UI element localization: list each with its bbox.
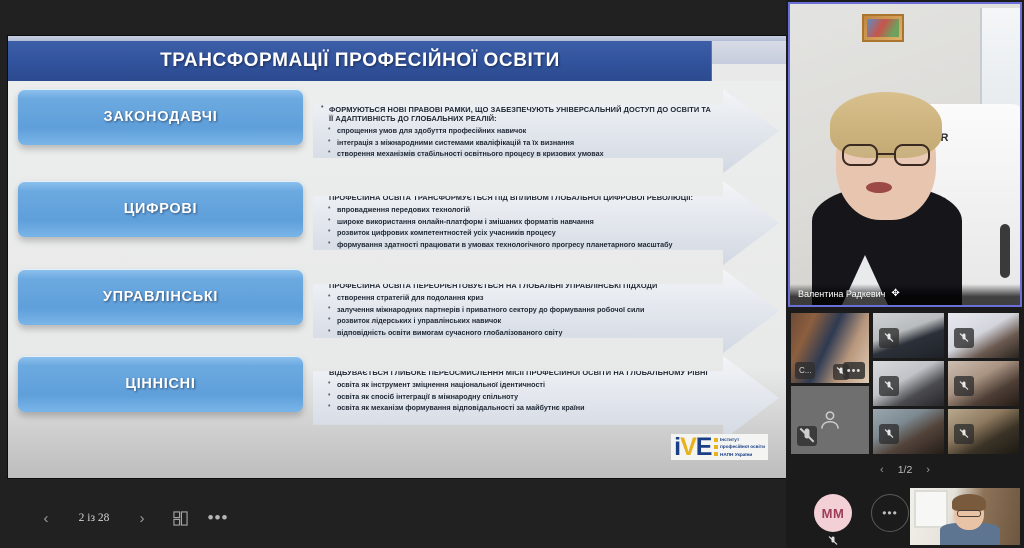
slide-body: ЗАКОНОДАВЧІ ФОРМУЮТЬСЯ НОВІ ПРАВОВІ РАМК… — [8, 81, 786, 478]
content-arrow-cyfrovi: ПРОФЕСІЙНА ОСВІТА ТРАНСФОРМУЄТЬСЯ ПІД ВП… — [313, 181, 779, 265]
slide-header-notch — [712, 41, 786, 64]
thumbnails-page-indicator: 1/2 — [898, 464, 913, 476]
shared-screen-stage: ТРАНСФОРМАЦІЇ ПРОФЕСІЙНОЇ ОСВІТИ ЗАКОНОД… — [0, 0, 786, 548]
mic-muted-icon — [879, 376, 899, 396]
list-item: впровадження передових технологій — [321, 204, 716, 216]
mic-muted-icon — [954, 376, 974, 396]
speaker-name-label: Валентина Радкевич — [798, 289, 885, 299]
mic-muted-icon — [879, 424, 899, 444]
thumbnails-prev-button[interactable]: ‹ — [880, 464, 884, 476]
category-pill-label: ЦИФРОВІ — [124, 201, 198, 217]
participant-tile-5[interactable] — [872, 408, 945, 455]
ive-letter-v: V — [680, 433, 696, 461]
content-arrow-zakonodavchi: ФОРМУЮТЬСЯ НОВІ ПРАВОВІ РАМКИ, ЩО ЗАБЕЗП… — [313, 89, 779, 173]
arrow-bullet-list: створення стратегій для подолання криз з… — [321, 292, 716, 339]
self-more-options-button[interactable]: ••• — [871, 494, 909, 532]
wall-picture-frame — [862, 14, 904, 42]
arrow-heading: ПРОФЕСІЙНА ОСВІТА ТРАНСФОРМУЄТЬСЯ ПІД ВП… — [321, 193, 716, 202]
ive-logo-line-1: Інститут — [714, 436, 765, 443]
arrow-bullet-list: освіта як інструмент зміцнення національ… — [321, 379, 716, 414]
pin-icon[interactable]: ✥ — [891, 288, 899, 299]
arrow-heading: ВІДБУВАЄТЬСЯ ГЛИБОКЕ ПЕРЕОСМИСЛЕННЯ МІСІ… — [321, 368, 716, 377]
participant-tile-7[interactable] — [790, 385, 870, 455]
ive-institute-logo: iVE Інститут професійної освіти НАПН Укр… — [671, 434, 768, 460]
arrow-heading: ПРОФЕСІЙНА ОСВІТА ПЕРЕОРІЄНТОВУЄТЬСЯ НА … — [321, 281, 716, 290]
more-options-button[interactable]: ••• — [206, 506, 230, 530]
list-item: відповідність світовим стандартам якості… — [321, 160, 716, 172]
mic-muted-icon — [827, 534, 839, 546]
speaker-glasses — [842, 144, 930, 166]
active-speaker-tile[interactable]: OR OR Валентина Радкевич ✥ — [788, 2, 1022, 307]
list-item: залучення міжнародних партнерів і приват… — [321, 304, 716, 316]
participant-tile-0[interactable]: С... ••• — [790, 312, 870, 384]
mic-muted-icon — [954, 328, 974, 348]
slide-navigation-toolbar: ‹ 2 із 28 › ••• — [0, 488, 786, 548]
list-item: освіта як інструмент зміцнення національ… — [321, 379, 716, 391]
self-view-hair — [952, 494, 986, 511]
participant-thumbnail-grid: С... ••• — [790, 312, 1020, 455]
content-arrow-upravlinski: ПРОФЕСІЙНА ОСВІТА ПЕРЕОРІЄНТОВУЄТЬСЯ НА … — [313, 269, 779, 353]
list-item: розвиток цифрових компетентностей усіх у… — [321, 227, 716, 239]
content-arrow-cinnisni: ВІДБУВАЄТЬСЯ ГЛИБОКЕ ПЕРЕОСМИСЛЕННЯ МІСІ… — [313, 356, 779, 440]
category-pill-label: УПРАВЛІНСЬКІ — [103, 289, 218, 305]
participant-tile-4[interactable] — [947, 360, 1020, 407]
participant-tile-3[interactable] — [872, 360, 945, 407]
participant-name-chip: С... — [795, 362, 815, 379]
list-item: створення механізмів стабільності освітн… — [321, 148, 716, 160]
list-item: інтеграція з міжнародними системами квал… — [321, 137, 716, 149]
mic-muted-icon — [879, 328, 899, 348]
avatar[interactable]: MM — [814, 494, 852, 532]
next-slide-button[interactable]: › — [130, 506, 154, 530]
ive-letter-e: E — [696, 433, 712, 461]
category-pill-cinnisni: ЦІННІСНІ — [18, 356, 303, 412]
participant-more-button[interactable]: ••• — [843, 362, 865, 379]
arrow-bullet-list: впровадження передових технологій широке… — [321, 204, 716, 251]
speaker-mouth — [866, 182, 892, 193]
previous-slide-button[interactable]: ‹ — [34, 506, 58, 530]
meeting-window: ТРАНСФОРМАЦІЇ ПРОФЕСІЙНОЇ ОСВІТИ ЗАКОНОД… — [0, 0, 1024, 548]
category-pill-upravlinski: УПРАВЛІНСЬКІ — [18, 269, 303, 325]
arrow-heading: ФОРМУЮТЬСЯ НОВІ ПРАВОВІ РАМКИ, ЩО ЗАБЕЗП… — [321, 105, 716, 123]
list-item: спрощення умов для здобуття професійних … — [321, 125, 716, 137]
participant-tile-2[interactable] — [947, 312, 1020, 359]
layout-panels-icon[interactable] — [168, 506, 192, 530]
ive-logo-line-2: професійної освіти — [714, 443, 765, 450]
category-pill-cyfrovi: ЦИФРОВІ — [18, 181, 303, 237]
category-pill-zakonodavchi: ЗАКОНОДАВЧІ — [18, 89, 303, 145]
person-placeholder-icon — [817, 407, 843, 433]
slide-page-counter: 2 із 28 — [72, 512, 116, 524]
list-item: формування здатності працювати в умовах … — [321, 239, 716, 251]
presentation-slide[interactable]: ТРАНСФОРМАЦІЇ ПРОФЕСІЙНОЇ ОСВІТИ ЗАКОНОД… — [8, 36, 786, 478]
list-item: розвиток лідерських і управлінських нави… — [321, 315, 716, 327]
self-view-bar: MM ••• — [786, 484, 1024, 548]
list-item: освіта як спосіб інтеграції в міжнародну… — [321, 391, 716, 403]
list-item: створення стратегій для подолання криз — [321, 292, 716, 304]
video-rail: OR OR Валентина Радкевич ✥ С... — [786, 0, 1024, 548]
participant-tile-1[interactable] — [872, 312, 945, 359]
participant-tile-6[interactable] — [947, 408, 1020, 455]
slide-title: ТРАНСФОРМАЦІЇ ПРОФЕСІЙНОЇ ОСВІТИ — [8, 41, 712, 81]
mic-muted-icon — [797, 426, 817, 446]
ive-wordmark: iVE — [674, 435, 711, 460]
list-item: відповідність освіти вимогам сучасного г… — [321, 327, 716, 339]
ive-logo-line-3: НАПН України — [714, 451, 765, 458]
category-pill-label: ЦІННІСНІ — [125, 376, 195, 392]
thumbnail-pagination: ‹ 1/2 › — [786, 458, 1024, 482]
self-view-window — [914, 490, 948, 528]
category-pill-label: ЗАКОНОДАВЧІ — [104, 109, 218, 125]
mic-muted-icon — [954, 424, 974, 444]
thumbnails-next-button[interactable]: › — [926, 464, 930, 476]
list-item: широке використання онлайн-платформ і зм… — [321, 216, 716, 228]
ive-logo-text: Інститут професійної освіти НАПН України — [714, 436, 765, 457]
arrow-bullet-list: спрощення умов для здобуття професійних … — [321, 125, 716, 172]
speaker-name-overlay: Валентина Радкевич ✥ — [790, 284, 1020, 305]
self-view-tile[interactable] — [910, 488, 1020, 545]
list-item: освіта як механізм формування відповідал… — [321, 402, 716, 414]
self-view-glasses — [957, 510, 981, 517]
